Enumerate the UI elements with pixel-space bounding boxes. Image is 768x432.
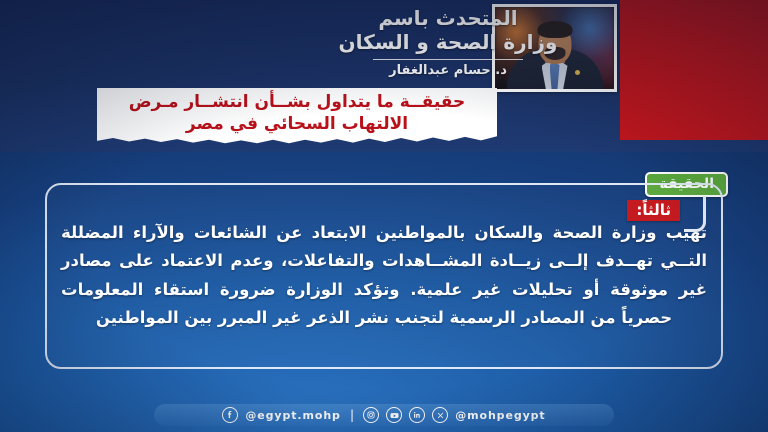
facebook-handle[interactable]: @egypt.mohp <box>245 409 340 422</box>
red-accent-block-lower <box>620 98 768 140</box>
content-box: تهيب وزارة الصحة والسكان بالمواطنين الاب… <box>45 183 723 369</box>
linkedin-icon[interactable] <box>409 407 425 423</box>
speaker-name: د. حسام عبدالغفار <box>288 63 608 78</box>
headline-banner: حقيقــة ما يتداول بشــأن انتشــار مـرض ا… <box>97 88 497 146</box>
footer-social-bar: @egypt.mohp | <box>154 404 614 426</box>
other-social-handle[interactable]: @mohpegypt <box>455 409 545 422</box>
title-divider <box>373 59 523 60</box>
speaker-title-block: المتحدث باسم وزارة الصحة و السكان د. حسا… <box>288 6 608 78</box>
content-body-text: تهيب وزارة الصحة والسكان بالمواطنين الاب… <box>61 219 707 333</box>
instagram-icon[interactable] <box>363 407 379 423</box>
speaker-title-line-2: وزارة الصحة و السكان <box>288 30 608 54</box>
infographic-card: المتحدث باسم وزارة الصحة و السكان د. حسا… <box>0 0 768 432</box>
headline-text: حقيقــة ما يتداول بشــأن انتشــار مـرض ا… <box>107 92 487 136</box>
speaker-title-line-1: المتحدث باسم <box>288 6 608 30</box>
handle-separator: | <box>350 408 354 422</box>
x-icon[interactable] <box>432 407 448 423</box>
youtube-icon[interactable] <box>386 407 402 423</box>
facebook-icon[interactable] <box>222 407 238 423</box>
